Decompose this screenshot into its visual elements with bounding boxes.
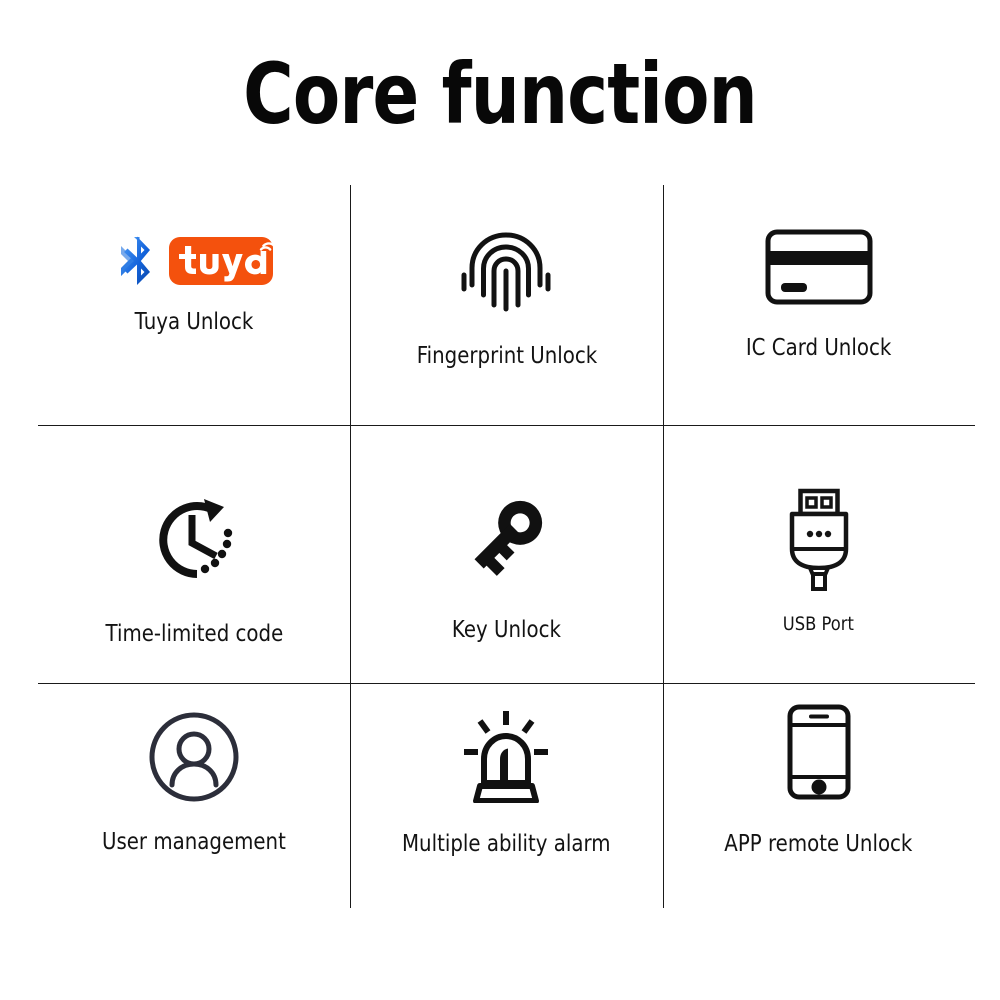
feature-label-ic-card-unlock: IC Card Unlock [746,335,891,361]
feature-cell-usb-port[interactable]: USB Port [663,425,975,683]
feature-label-key-unlock: Key Unlock [452,617,561,643]
bluetooth-icon [115,233,155,289]
feature-label-time-limited-code: Time-limited code [105,621,283,647]
feature-label-usb-port: USB Port [783,613,854,635]
siren-alarm-icon [456,707,556,803]
clock-arrow-icon [142,493,246,589]
feature-cell-ic-card-unlock[interactable]: IC Card Unlock [663,185,975,425]
feature-label-tuya-unlock: Tuya Unlock [135,309,254,335]
feature-cell-fingerprint-unlock[interactable]: Fingerprint Unlock [350,185,662,425]
usb-connector-icon [780,487,858,591]
fingerprint-icon [458,215,554,319]
feature-label-multiple-ability-alarm: Multiple ability alarm [402,831,611,857]
feature-cell-tuya-unlock[interactable]: Tuya Unlock [38,185,350,425]
feature-label-user-management: User management [102,829,286,855]
ic-card-icon [765,229,873,305]
tuya-logo-badge [169,237,273,285]
feature-cell-key-unlock[interactable]: Key Unlock [350,425,662,683]
user-circle-icon [148,711,240,803]
feature-label-fingerprint-unlock: Fingerprint Unlock [416,343,597,369]
key-icon [458,487,554,587]
smartphone-icon [786,703,852,801]
feature-cell-app-remote-unlock[interactable]: APP remote Unlock [663,683,975,908]
feature-grid: Tuya Unlock Fingerprint Unlock [38,185,975,908]
feature-label-app-remote-unlock: APP remote Unlock [725,831,913,857]
page-title: Core function [90,52,910,136]
feature-cell-user-management[interactable]: User management [38,683,350,908]
bluetooth-tuya-logo [115,233,273,289]
tuya-wordmark-icon [169,237,273,285]
feature-cell-multiple-ability-alarm[interactable]: Multiple ability alarm [350,683,662,908]
feature-cell-time-limited-code[interactable]: Time-limited code [38,425,350,683]
